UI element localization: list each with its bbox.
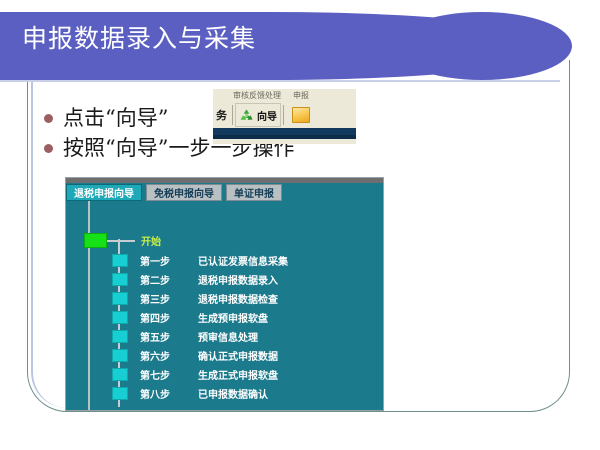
toolbar-button-row: 务 向导 — [213, 102, 356, 128]
toolbar-bottom-strip — [213, 128, 356, 135]
step-number: 第七步 — [140, 367, 198, 382]
step-name: 已认证发票信息采集 — [198, 253, 288, 268]
wizard-tab-bar: 退税申报向导 免税申报向导 单证申报 — [66, 183, 383, 201]
step-name: 退税申报数据录入 — [198, 272, 278, 287]
start-connector — [107, 240, 135, 242]
tab-exemption-declaration-wizard[interactable]: 免税申报向导 — [146, 184, 222, 201]
menu-item-declaration[interactable]: 申报 — [293, 90, 309, 101]
step-number: 第六步 — [140, 348, 198, 363]
wizard-start-node[interactable]: 开始 — [84, 233, 161, 248]
list-item[interactable]: 第七步 生成正式申报软盘 — [66, 365, 383, 384]
title-band-cap — [392, 12, 572, 80]
list-item[interactable]: 第二步 退税申报数据录入 — [66, 270, 383, 289]
wizard-start-label: 开始 — [141, 233, 161, 248]
slide-canvas: 申报数据录入与采集 点击“向导” 按照“向导”一步一步操作 审核反馈处理 申报 … — [0, 0, 600, 450]
bullet-dot-icon — [44, 114, 53, 123]
wizard-button-label: 向导 — [257, 108, 277, 123]
step-name: 生成正式申报软盘 — [198, 367, 278, 382]
recycle-icon — [239, 108, 254, 123]
toolbar-screenshot: 审核反馈处理 申报 务 向导 — [213, 88, 356, 144]
toolbar-separator — [283, 105, 284, 125]
step-node-icon — [112, 311, 128, 324]
step-number: 第八步 — [140, 386, 198, 401]
toolbar-partial-button-label[interactable]: 务 — [216, 107, 227, 123]
step-name: 确认正式申报数据 — [198, 348, 278, 363]
list-item[interactable]: 第一步 已认证发票信息采集 — [66, 251, 383, 270]
start-chip-icon — [84, 233, 107, 248]
step-node-icon — [112, 349, 128, 362]
step-number: 第五步 — [140, 329, 198, 344]
tab-document-declaration-wizard[interactable]: 单证申报 — [226, 184, 282, 201]
step-name: 预审信息处理 — [198, 329, 258, 344]
step-name: 生成预申报软盘 — [198, 310, 268, 325]
toolbar-bottom-strip-2 — [213, 135, 356, 139]
list-item[interactable]: 第八步 已申报数据确认 — [66, 384, 383, 403]
page-title: 申报数据录入与采集 — [22, 24, 256, 54]
folder-icon[interactable] — [292, 107, 310, 123]
step-name: 已申报数据确认 — [198, 386, 268, 401]
menu-item-audit-feedback[interactable]: 审核反馈处理 — [233, 90, 281, 101]
step-node-icon — [112, 387, 128, 400]
step-number: 第二步 — [140, 272, 198, 287]
step-number: 第一步 — [140, 253, 198, 268]
list-item[interactable]: 第三步 退税申报数据检查 — [66, 289, 383, 308]
step-node-icon — [112, 273, 128, 286]
bullet-text: 点击“向导” — [63, 105, 168, 131]
step-node-icon — [112, 330, 128, 343]
step-node-icon — [112, 292, 128, 305]
list-item[interactable]: 第五步 预审信息处理 — [66, 327, 383, 346]
wizard-step-list: 第一步 已认证发票信息采集 第二步 退税申报数据录入 第三步 退税申报数据检查 — [66, 251, 383, 403]
step-number: 第四步 — [140, 310, 198, 325]
step-node-icon — [112, 368, 128, 381]
list-item[interactable]: 第六步 确认正式申报数据 — [66, 346, 383, 365]
menu-bar: 审核反馈处理 申报 — [213, 89, 356, 102]
title-band-underline — [0, 80, 560, 82]
list-item[interactable]: 第四步 生成预申报软盘 — [66, 308, 383, 327]
tab-refund-declaration-wizard[interactable]: 退税申报向导 — [66, 184, 142, 201]
wizard-window-screenshot: 退税申报向导 免税申报向导 单证申报 开始 第一步 已认证发票信息采集 — [66, 178, 383, 410]
wizard-button[interactable]: 向导 — [235, 103, 281, 127]
toolbar-separator — [232, 105, 233, 125]
step-number: 第三步 — [140, 291, 198, 306]
wizard-flow-area: 开始 第一步 已认证发票信息采集 第二步 退税申报数据录入 — [66, 201, 383, 410]
step-node-icon — [112, 254, 128, 267]
bullet-dot-icon — [44, 144, 53, 153]
step-name: 退税申报数据检查 — [198, 291, 278, 306]
